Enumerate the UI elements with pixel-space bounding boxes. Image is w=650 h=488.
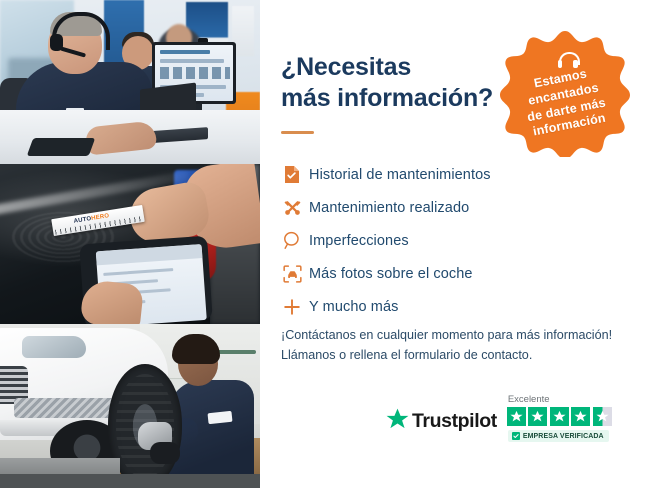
feature-label: Y mucho más	[309, 299, 398, 315]
trustpilot-wordmark: Trustpilot	[412, 410, 497, 433]
rating-star-filled	[507, 407, 526, 426]
feature-label: Mantenimiento realizado	[309, 200, 469, 216]
page-title-line-2: más información?	[281, 83, 531, 114]
headset-icon	[557, 52, 578, 70]
call-centre-agent-photo	[0, 0, 260, 164]
plus-icon	[275, 296, 309, 318]
technician-wheel-photo	[0, 324, 260, 488]
trustpilot-rating: Trustpilot Excelente	[386, 386, 650, 450]
technician-glove-dark	[150, 442, 180, 464]
crossed-tools-icon	[275, 197, 309, 219]
contact-paragraph: ¡Contáctanos en cualquier momento para m…	[281, 325, 637, 366]
trustpilot-star-rating	[507, 407, 612, 426]
technician-hair	[172, 334, 220, 364]
rating-star-filled	[571, 407, 590, 426]
rating-star-half	[593, 407, 612, 426]
car-photo-frame-icon	[275, 263, 309, 285]
feature-label: Más fotos sobre el coche	[309, 266, 473, 282]
feature-item-maintenance-history: Historial de mantenimientos	[275, 158, 635, 191]
magnifier-icon	[275, 230, 309, 252]
page-title-line-1: ¿Necesitas	[281, 53, 411, 81]
car-headlight	[22, 336, 86, 358]
title-divider	[281, 131, 314, 134]
desk-tablet	[27, 138, 96, 156]
promo-banner: AUTOHERO	[0, 0, 650, 488]
rating-star-filled	[528, 407, 547, 426]
rating-star-filled	[550, 407, 569, 426]
verified-company-label: EMPRESA VERIFICADA	[523, 433, 604, 440]
promo-starburst-badge: Estamos encantados de darte más informac…	[500, 27, 630, 157]
car-lower-grille	[14, 398, 122, 418]
feature-label: Imperfecciones	[309, 233, 409, 249]
feature-list: Historial de mantenimientos M	[275, 158, 635, 323]
photo-column: AUTOHERO	[0, 0, 260, 488]
feature-item-imperfections: Imperfecciones	[275, 224, 635, 257]
vehicle-inspection-photo: AUTOHERO	[0, 164, 260, 324]
contact-line-1: ¡Contáctanos en cualquier momento para m…	[281, 325, 637, 345]
checklist-document-icon	[275, 164, 309, 186]
trustpilot-star-icon	[386, 408, 409, 435]
trustpilot-score-block: Excelente	[507, 394, 612, 442]
trustpilot-rating-label: Excelente	[508, 394, 550, 405]
feature-item-more-photos: Más fotos sobre el coche	[275, 257, 635, 290]
feature-label: Historial de mantenimientos	[309, 167, 491, 183]
workshop-floor	[0, 474, 260, 488]
page-title: ¿Necesitas más información?	[281, 52, 531, 113]
contact-line-2: Llámanos o rellena el formulario de cont…	[281, 345, 637, 365]
verified-company-badge: EMPRESA VERIFICADA	[508, 430, 609, 442]
verified-check-icon	[512, 432, 520, 440]
feature-item-maintenance-done: Mantenimiento realizado	[275, 191, 635, 224]
feature-item-much-more: Y mucho más	[275, 290, 635, 323]
trustpilot-logo[interactable]: Trustpilot	[386, 408, 497, 435]
